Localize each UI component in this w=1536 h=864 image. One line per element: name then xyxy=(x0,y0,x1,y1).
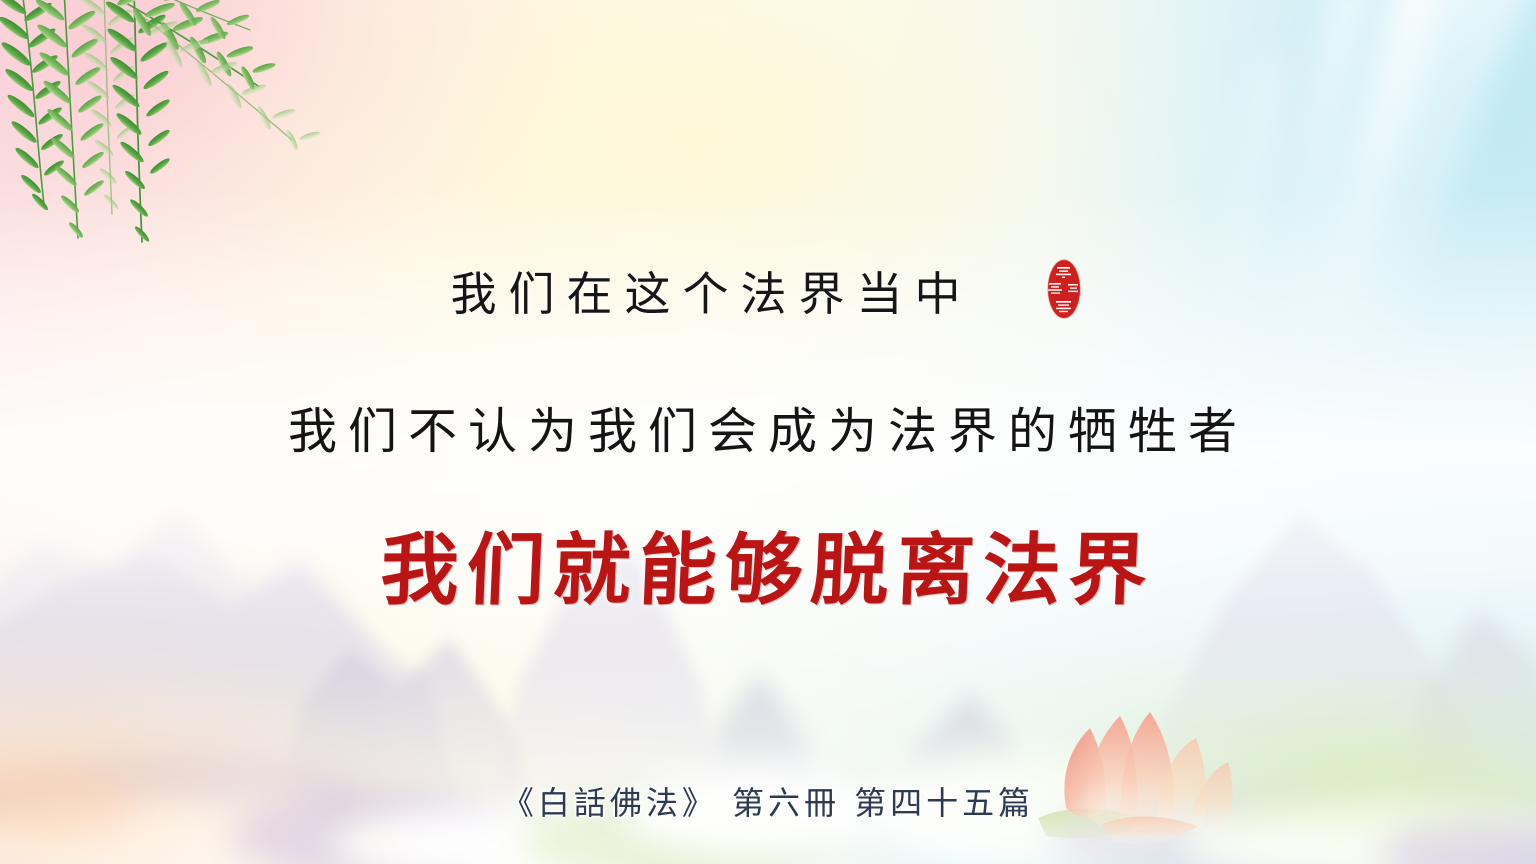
willow-branch xyxy=(0,0,332,250)
quote-line-1: 我们在这个法界当中 xyxy=(450,258,972,324)
quote-line-3-row: 我们就能够脱离法界 xyxy=(0,508,1536,620)
caption-row: 《白話佛法》 第六冊 第四十五篇 xyxy=(0,778,1536,824)
quote-line-2: 我们不认为我们会成为法界的牺牲者 xyxy=(288,392,1248,463)
quote-line-1-row: 我们在这个法界当中 xyxy=(0,258,1536,324)
slide-canvas: 我们在这个法界当中 xyxy=(0,0,1536,864)
source-caption: 《白話佛法》 第六冊 第四十五篇 xyxy=(502,778,1034,824)
quote-line-2-row: 我们不认为我们会成为法界的牺牲者 xyxy=(0,392,1536,463)
quote-headline-red: 我们就能够脱离法界 xyxy=(379,508,1158,620)
red-seal-stamp xyxy=(1042,257,1086,321)
lotus-flower xyxy=(1028,690,1278,864)
